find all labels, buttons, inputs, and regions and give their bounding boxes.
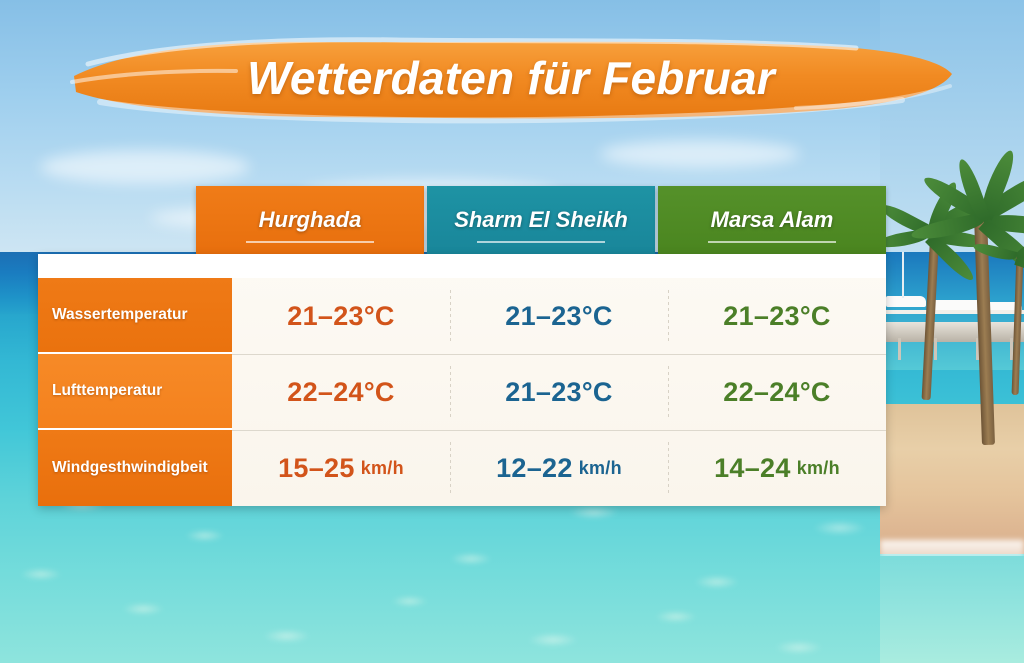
- cell-value: 15–25: [278, 453, 355, 484]
- column-header-sharm-el-sheikh[interactable]: Sharm El Sheikh: [427, 186, 655, 254]
- table-top-band: [38, 254, 886, 278]
- row-label-text: Lufttemperatur: [52, 382, 162, 400]
- boat-shape: [886, 296, 926, 307]
- cell-unit: km/h: [361, 458, 404, 479]
- column-header-label: Hurghada: [259, 207, 362, 233]
- cell-value: 21–23°C: [505, 377, 612, 408]
- cell-water-marsa: 21–23°C: [668, 278, 886, 354]
- cell-value: 21–23°C: [287, 301, 394, 332]
- row-label-windgeschwindigkeit: Windgesthwindigbeit: [38, 430, 232, 506]
- row-cells: 15–25 km/h 12–22 km/h 14–24 km/h: [232, 430, 886, 506]
- cell-water-hurghada: 21–23°C: [232, 278, 450, 354]
- cell-unit: km/h: [579, 458, 622, 479]
- row-label-wassertemperatur: Wassertemperatur: [38, 278, 232, 354]
- jetty-railing: [880, 310, 1024, 314]
- header-underline: [246, 241, 374, 243]
- cell-air-marsa: 22–24°C: [668, 354, 886, 430]
- cell-unit: km/h: [797, 458, 840, 479]
- table-row: Lufttemperatur 22–24°C 21–23°C 22–24°C: [38, 354, 886, 430]
- column-header-hurghada[interactable]: Hurghada: [196, 186, 424, 254]
- column-header-label: Sharm El Sheikh: [454, 207, 628, 233]
- table-row: Windgesthwindigbeit 15–25 km/h 12–22 km/…: [38, 430, 886, 506]
- row-cells: 21–23°C 21–23°C 21–23°C: [232, 278, 886, 354]
- jetty-deck: [880, 322, 1024, 342]
- table-row: Wassertemperatur 21–23°C 21–23°C 21–23°C: [38, 278, 886, 354]
- header-underline: [708, 241, 836, 243]
- beach-sand: [880, 404, 1024, 554]
- cell-wind-sharm: 12–22 km/h: [450, 430, 668, 506]
- cell-water-sharm: 21–23°C: [450, 278, 668, 354]
- table-rows: Wassertemperatur 21–23°C 21–23°C 21–23°C: [38, 278, 886, 506]
- cloud-shape: [600, 140, 800, 168]
- cell-air-hurghada: 22–24°C: [232, 354, 450, 430]
- column-header-marsa-alam[interactable]: Marsa Alam: [658, 186, 886, 254]
- table-header-row: Hurghada Sharm El Sheikh Marsa Alam: [196, 186, 886, 254]
- cell-wind-marsa: 14–24 km/h: [668, 430, 886, 506]
- infographic-canvas: Wetterdaten für Februar Hurghada Sharm E…: [0, 0, 1024, 663]
- weather-table: Hurghada Sharm El Sheikh Marsa Alam Wass…: [38, 186, 886, 506]
- cell-value: 21–23°C: [723, 301, 830, 332]
- boat-mast: [902, 252, 904, 298]
- column-header-label: Marsa Alam: [711, 207, 834, 233]
- title-banner: Wetterdaten für Februar: [66, 30, 956, 126]
- cell-air-sharm: 21–23°C: [450, 354, 668, 430]
- cell-value: 22–24°C: [723, 377, 830, 408]
- page-title: Wetterdaten für Februar: [66, 30, 956, 126]
- cell-value: 12–22: [496, 453, 573, 484]
- row-label-text: Windgesthwindigbeit: [52, 459, 208, 477]
- row-cells: 22–24°C 21–23°C 22–24°C: [232, 354, 886, 430]
- cell-value: 14–24: [714, 453, 791, 484]
- header-underline: [477, 241, 605, 243]
- table-body: Wassertemperatur 21–23°C 21–23°C 21–23°C: [38, 254, 886, 506]
- cloud-shape: [40, 150, 250, 184]
- shoreline-water: [880, 556, 1024, 663]
- cell-value: 22–24°C: [287, 377, 394, 408]
- row-label-text: Wassertemperatur: [52, 306, 188, 324]
- row-label-lufttemperatur: Lufttemperatur: [38, 354, 232, 430]
- cell-wind-hurghada: 15–25 km/h: [232, 430, 450, 506]
- cell-value: 21–23°C: [505, 301, 612, 332]
